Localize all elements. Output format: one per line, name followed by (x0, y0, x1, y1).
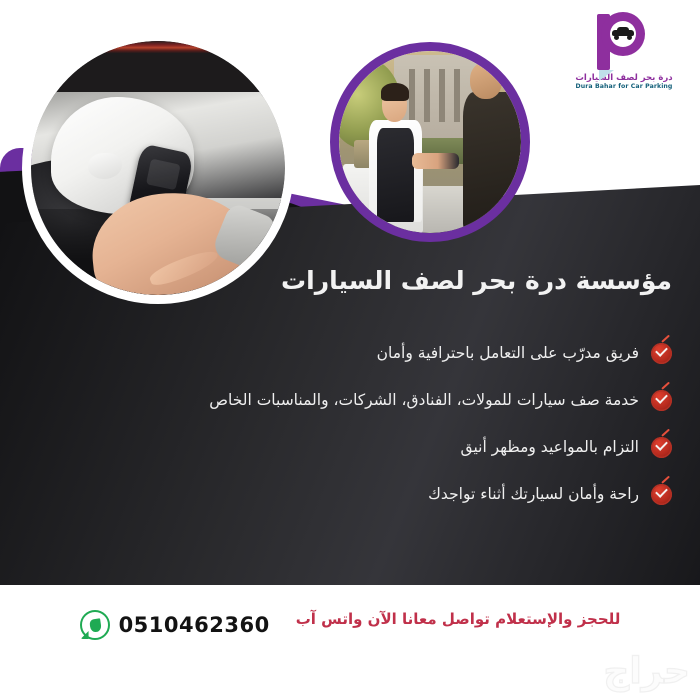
cta-text: للحجز والإستعلام تواصل معانا الآن واتس آ… (296, 610, 621, 628)
client-figure (463, 62, 521, 229)
whatsapp-icon[interactable] (80, 610, 110, 640)
photo-inner (339, 51, 521, 233)
glove-thumb-shape (88, 153, 122, 179)
car-wheel-left (614, 35, 619, 40)
attendant-hair (381, 83, 408, 101)
photo-inner (31, 41, 285, 295)
hand-finger-shape (147, 246, 221, 290)
attendant-vest (377, 128, 414, 222)
logo-swoosh-icon (599, 70, 614, 81)
whatsapp-contact[interactable]: 0510462360 (80, 610, 270, 640)
logo-name-arabic: درة بحر لصف السيارات (564, 73, 684, 83)
poster-canvas: درة بحر لصف السيارات Dura Bahar for Car … (0, 0, 700, 700)
list-item: فريق مدرّب على التعامل باحترافية وأمان (32, 330, 672, 377)
list-item-label: التزام بالمواعيد ومظهر أنيق (461, 437, 639, 458)
building-column (454, 69, 460, 122)
list-item: راحة وأمان لسيارتك أثناء تواجدك (32, 471, 672, 518)
list-item-label: راحة وأمان لسيارتك أثناء تواجدك (428, 484, 639, 505)
list-item: خدمة صف سيارات للمولات، الفنادق، الشركات… (32, 377, 672, 424)
valet-attendant-photo (330, 42, 530, 242)
car-wheel-right (627, 35, 632, 40)
client-suit (463, 92, 521, 229)
brand-logo[interactable]: درة بحر لصف السيارات Dura Bahar for Car … (564, 10, 684, 90)
contact-bar: للحجز والإستعلام تواصل معانا الآن واتس آ… (0, 585, 700, 700)
list-item: التزام بالمواعيد ومظهر أنيق (32, 424, 672, 471)
list-item-label: فريق مدرّب على التعامل باحترافية وأمان (377, 343, 639, 364)
key-handoff-shape (412, 153, 459, 169)
client-head (470, 62, 502, 99)
logo-name-english: Dura Bahar for Car Parking (564, 83, 684, 90)
check-badge-icon (651, 437, 672, 458)
check-badge-icon (651, 484, 672, 505)
check-badge-icon (651, 343, 672, 364)
gloved-hand-car-key-photo (22, 32, 294, 304)
building-column (424, 69, 430, 122)
car-icon (612, 27, 634, 40)
phone-number[interactable]: 0510462360 (119, 613, 270, 637)
page-title: مؤسسة درة بحر لصف السيارات (281, 266, 672, 295)
building-column (439, 69, 445, 122)
list-item-label: خدمة صف سيارات للمولات، الفنادق، الشركات… (209, 390, 639, 411)
parking-p-car-icon (591, 10, 657, 72)
watermark: حراج (603, 651, 690, 692)
features-list: فريق مدرّب على التعامل باحترافية وأمان خ… (32, 330, 672, 518)
check-badge-icon (651, 390, 672, 411)
